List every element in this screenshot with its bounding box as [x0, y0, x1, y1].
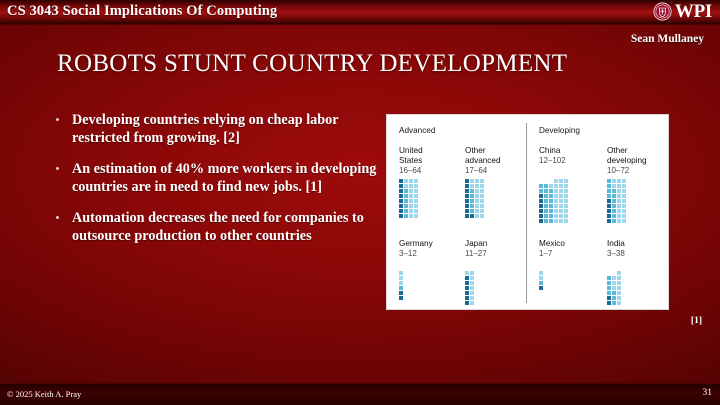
waffle-square	[465, 286, 469, 290]
waffle-square	[404, 194, 408, 198]
bullet-dot-icon	[56, 167, 59, 170]
waffle-square	[409, 214, 413, 218]
waffle-square	[465, 179, 469, 183]
waffle-square	[612, 199, 616, 203]
figure-citation: [1]	[691, 316, 702, 326]
waffle-column	[564, 179, 568, 223]
waffle-square	[554, 209, 558, 213]
waffle-square	[470, 209, 474, 213]
bullet-text: Automation decreases the need for compan…	[72, 210, 364, 244]
waffle-square	[607, 199, 611, 203]
cell-range: 1–7	[539, 249, 565, 259]
waffle-square	[465, 204, 469, 208]
waffle-square	[475, 199, 479, 203]
waffle-square	[409, 189, 413, 193]
chart-cell-germany: Germany 3–12	[399, 239, 433, 259]
waffle-column	[409, 179, 413, 218]
waffle-column	[617, 271, 621, 305]
waffle-square	[414, 204, 418, 208]
waffle-square	[617, 281, 621, 285]
waffle-column	[554, 179, 558, 223]
course-title: CS 3043 Social Implications Of Computing	[7, 3, 277, 20]
waffle-square	[622, 194, 626, 198]
cell-range: 12–102	[539, 156, 566, 166]
waffle-square	[539, 281, 543, 285]
cell-range: 3–38	[607, 249, 625, 259]
footer-page-number: 31	[703, 388, 713, 398]
waffle-square	[465, 184, 469, 188]
waffle-square	[414, 184, 418, 188]
waffle-square	[409, 179, 413, 183]
waffle-square	[399, 204, 403, 208]
waffle-square	[399, 296, 403, 300]
waffle-square	[470, 271, 474, 275]
waffle-square	[617, 179, 621, 183]
waffle-square	[617, 194, 621, 198]
waffle-square	[544, 219, 548, 223]
waffle-square	[399, 214, 403, 218]
waffle-square	[612, 281, 616, 285]
waffle-square	[414, 209, 418, 213]
waffle-column	[539, 184, 543, 223]
waffle-square	[554, 184, 558, 188]
waffle-square	[399, 286, 403, 290]
waffle-square	[607, 276, 611, 280]
waffle-column	[607, 179, 611, 223]
waffle-square	[470, 291, 474, 295]
waffle-square	[480, 209, 484, 213]
waffle-column	[399, 179, 403, 218]
waffle-column	[414, 179, 418, 218]
waffle-square	[465, 209, 469, 213]
waffle-square	[399, 291, 403, 295]
waffle-square	[465, 271, 469, 275]
waffle-square	[399, 199, 403, 203]
waffle-square	[612, 276, 616, 280]
waffle-square	[480, 214, 484, 218]
waffle-square	[539, 209, 543, 213]
waffle-square	[414, 199, 418, 203]
waffle-grid-germany	[399, 271, 403, 300]
waffle-square	[612, 214, 616, 218]
waffle-square	[404, 204, 408, 208]
waffle-square	[559, 179, 563, 183]
bullet-item: An estimation of 40% more workers in dev…	[52, 161, 382, 196]
waffle-square	[470, 199, 474, 203]
waffle-square	[475, 184, 479, 188]
waffle-square	[617, 301, 621, 305]
waffle-column	[480, 179, 484, 218]
waffle-square	[564, 194, 568, 198]
chart-cell-other-advanced: Other advanced 17–64	[465, 146, 501, 176]
bullet-dot-icon	[56, 118, 59, 121]
waffle-square	[539, 276, 543, 280]
waffle-square	[559, 184, 563, 188]
waffle-square	[617, 286, 621, 290]
chart-cell-india: India 3–38	[607, 239, 625, 259]
wpi-logo: WPI	[653, 1, 712, 22]
waffle-square	[549, 189, 553, 193]
waffle-square	[622, 209, 626, 213]
waffle-square	[607, 194, 611, 198]
cell-name: Japan	[465, 239, 487, 249]
waffle-square	[470, 281, 474, 285]
waffle-square	[470, 189, 474, 193]
waffle-square	[617, 276, 621, 280]
waffle-square	[475, 194, 479, 198]
waffle-square	[470, 184, 474, 188]
waffle-square	[612, 184, 616, 188]
cell-name: China	[539, 146, 566, 156]
waffle-square	[612, 189, 616, 193]
waffle-square	[617, 209, 621, 213]
waffle-square	[554, 199, 558, 203]
waffle-square	[480, 204, 484, 208]
waffle-square	[607, 179, 611, 183]
waffle-column	[549, 184, 553, 223]
bullet-text: An estimation of 40% more workers in dev…	[72, 161, 376, 195]
waffle-grid-other-developing	[607, 179, 626, 223]
waffle-square	[617, 219, 621, 223]
waffle-square	[465, 296, 469, 300]
waffle-square	[475, 209, 479, 213]
waffle-square	[465, 281, 469, 285]
waffle-square	[465, 189, 469, 193]
chart-cell-japan: Japan 11–27	[465, 239, 487, 259]
waffle-square	[549, 194, 553, 198]
cell-name: Mexico	[539, 239, 565, 249]
waffle-square	[549, 209, 553, 213]
waffle-column	[617, 179, 621, 223]
waffle-square	[617, 184, 621, 188]
waffle-square	[559, 209, 563, 213]
waffle-square	[554, 214, 558, 218]
chart-cell-united-states: United States 16–64	[399, 146, 423, 176]
cell-range: 11–27	[465, 249, 487, 259]
waffle-square	[622, 199, 626, 203]
waffle-square	[465, 199, 469, 203]
waffle-square	[622, 189, 626, 193]
waffle-square	[607, 291, 611, 295]
waffle-grid-japan	[465, 271, 474, 305]
waffle-square	[549, 219, 553, 223]
waffle-grid-united-states	[399, 179, 418, 218]
waffle-square	[617, 296, 621, 300]
chart-cell-other-developing: Other developing 10–72	[607, 146, 647, 176]
waffle-square	[404, 214, 408, 218]
waffle-square	[539, 286, 543, 290]
waffle-square	[612, 296, 616, 300]
cell-name: Germany	[399, 239, 433, 249]
waffle-square	[564, 189, 568, 193]
waffle-column	[465, 179, 469, 218]
waffle-square	[480, 189, 484, 193]
waffle-square	[409, 199, 413, 203]
waffle-square	[617, 204, 621, 208]
waffle-square	[470, 204, 474, 208]
waffle-square	[480, 179, 484, 183]
waffle-square	[409, 204, 413, 208]
chart-cell-mexico: Mexico 1–7	[539, 239, 565, 259]
waffle-square	[564, 204, 568, 208]
waffle-square	[617, 291, 621, 295]
waffle-square	[559, 189, 563, 193]
waffle-square	[414, 179, 418, 183]
cell-range: 3–12	[399, 249, 433, 259]
waffle-square	[622, 184, 626, 188]
waffle-square	[544, 214, 548, 218]
waffle-square	[475, 204, 479, 208]
waffle-grid-mexico	[539, 271, 543, 290]
bullet-list: Developing countries relying on cheap la…	[52, 112, 382, 259]
waffle-column	[622, 179, 626, 223]
figure-divider	[526, 123, 527, 303]
waffle-square	[465, 276, 469, 280]
waffle-square	[564, 184, 568, 188]
waffle-grid-india	[607, 271, 621, 305]
waffle-square	[607, 204, 611, 208]
waffle-column	[399, 271, 403, 300]
waffle-square	[612, 204, 616, 208]
footer-bar: © 2025 Keith A. Pray 31	[0, 383, 720, 405]
waffle-square	[607, 281, 611, 285]
waffle-square	[607, 184, 611, 188]
waffle-square	[539, 271, 543, 275]
waffle-square	[480, 199, 484, 203]
waffle-square	[544, 199, 548, 203]
waffle-square	[470, 296, 474, 300]
waffle-square	[404, 184, 408, 188]
waffle-square	[554, 219, 558, 223]
waffle-square	[559, 204, 563, 208]
waffle-square	[404, 199, 408, 203]
waffle-square	[399, 179, 403, 183]
waffle-square	[544, 204, 548, 208]
waffle-square	[414, 194, 418, 198]
waffle-square	[404, 209, 408, 213]
waffle-square	[607, 296, 611, 300]
group-label-developing: Developing	[539, 126, 580, 135]
waffle-square	[470, 179, 474, 183]
waffle-square	[559, 194, 563, 198]
waffle-square	[607, 301, 611, 305]
waffle-square	[409, 194, 413, 198]
waffle-square	[539, 184, 543, 188]
waffle-column	[544, 184, 548, 223]
waffle-square	[404, 179, 408, 183]
waffle-square	[465, 301, 469, 305]
waffle-column	[607, 276, 611, 305]
cell-name: Other developing	[607, 146, 647, 165]
waffle-grid-other-advanced	[465, 179, 484, 218]
waffle-column	[539, 271, 543, 290]
waffle-square	[409, 184, 413, 188]
waffle-square	[607, 189, 611, 193]
waffle-square	[539, 214, 543, 218]
waffle-square	[480, 184, 484, 188]
waffle-square	[465, 291, 469, 295]
waffle-square	[480, 194, 484, 198]
waffle-square	[622, 204, 626, 208]
author-name: Sean Mullaney	[631, 33, 704, 45]
cell-range: 17–64	[465, 166, 501, 176]
waffle-square	[414, 214, 418, 218]
waffle-square	[475, 189, 479, 193]
waffle-square	[554, 194, 558, 198]
waffle-square	[549, 199, 553, 203]
waffle-square	[564, 209, 568, 213]
slide: CS 3043 Social Implications Of Computing…	[0, 0, 720, 405]
waffle-square	[549, 214, 553, 218]
waffle-square	[539, 199, 543, 203]
waffle-square	[554, 204, 558, 208]
waffle-column	[612, 276, 616, 305]
waffle-square	[554, 179, 558, 183]
cell-range: 10–72	[607, 166, 647, 176]
wpi-seal-icon	[653, 2, 672, 21]
waffle-square	[399, 271, 403, 275]
waffle-square	[544, 209, 548, 213]
waffle-column	[470, 179, 474, 218]
waffle-square	[622, 214, 626, 218]
waffle-square	[475, 179, 479, 183]
waffle-square	[544, 189, 548, 193]
waffle-square	[465, 214, 469, 218]
waffle-square	[399, 281, 403, 285]
waffle-square	[617, 189, 621, 193]
waffle-square	[539, 204, 543, 208]
waffle-square	[559, 199, 563, 203]
waffle-square	[617, 214, 621, 218]
waffle-square	[539, 194, 543, 198]
waffle-square	[465, 194, 469, 198]
waffle-square	[470, 301, 474, 305]
waffle-column	[475, 179, 479, 218]
waffle-square	[544, 184, 548, 188]
waffle-column	[404, 179, 408, 218]
waffle-square	[470, 194, 474, 198]
slide-title: ROBOTS STUNT COUNTRY DEVELOPMENT	[57, 50, 567, 78]
waffle-column	[559, 179, 563, 223]
waffle-square	[559, 219, 563, 223]
waffle-square	[544, 194, 548, 198]
waffle-square	[409, 209, 413, 213]
waffle-column	[470, 271, 474, 305]
waffle-square	[612, 286, 616, 290]
waffle-square	[612, 219, 616, 223]
figure-waffle-chart: Advanced Developing United States 16–64 …	[386, 114, 669, 310]
waffle-square	[607, 209, 611, 213]
waffle-square	[475, 214, 479, 218]
waffle-square	[607, 219, 611, 223]
waffle-column	[465, 271, 469, 305]
bullet-dot-icon	[56, 216, 59, 219]
group-label-advanced: Advanced	[399, 126, 435, 135]
waffle-square	[607, 214, 611, 218]
cell-name: United States	[399, 146, 423, 165]
chart-cell-china: China 12–102	[539, 146, 566, 166]
waffle-square	[612, 301, 616, 305]
waffle-square	[559, 214, 563, 218]
waffle-grid-china	[539, 179, 568, 223]
waffle-square	[539, 219, 543, 223]
waffle-square	[622, 179, 626, 183]
waffle-square	[539, 189, 543, 193]
waffle-square	[617, 271, 621, 275]
waffle-square	[399, 209, 403, 213]
waffle-square	[404, 189, 408, 193]
cell-range: 16–64	[399, 166, 423, 176]
waffle-square	[564, 199, 568, 203]
waffle-square	[622, 219, 626, 223]
cell-name: India	[607, 239, 625, 249]
bullet-text: Developing countries relying on cheap la…	[72, 112, 338, 146]
waffle-square	[399, 276, 403, 280]
waffle-square	[470, 276, 474, 280]
bullet-item: Automation decreases the need for compan…	[52, 210, 382, 245]
waffle-square	[612, 194, 616, 198]
waffle-square	[549, 184, 553, 188]
waffle-column	[612, 179, 616, 223]
waffle-square	[470, 286, 474, 290]
waffle-square	[607, 286, 611, 290]
waffle-square	[399, 194, 403, 198]
header-bar: CS 3043 Social Implications Of Computing…	[0, 0, 720, 25]
waffle-square	[564, 219, 568, 223]
waffle-square	[414, 189, 418, 193]
cell-name: Other advanced	[465, 146, 501, 165]
waffle-square	[612, 179, 616, 183]
waffle-square	[399, 184, 403, 188]
waffle-square	[564, 214, 568, 218]
waffle-square	[399, 189, 403, 193]
waffle-square	[470, 214, 474, 218]
waffle-square	[617, 199, 621, 203]
wpi-logo-text: WPI	[675, 1, 712, 22]
waffle-square	[612, 291, 616, 295]
waffle-square	[612, 209, 616, 213]
waffle-square	[564, 179, 568, 183]
footer-copyright: © 2025 Keith A. Pray	[7, 389, 81, 399]
bullet-item: Developing countries relying on cheap la…	[52, 112, 382, 147]
waffle-square	[554, 189, 558, 193]
waffle-square	[549, 204, 553, 208]
